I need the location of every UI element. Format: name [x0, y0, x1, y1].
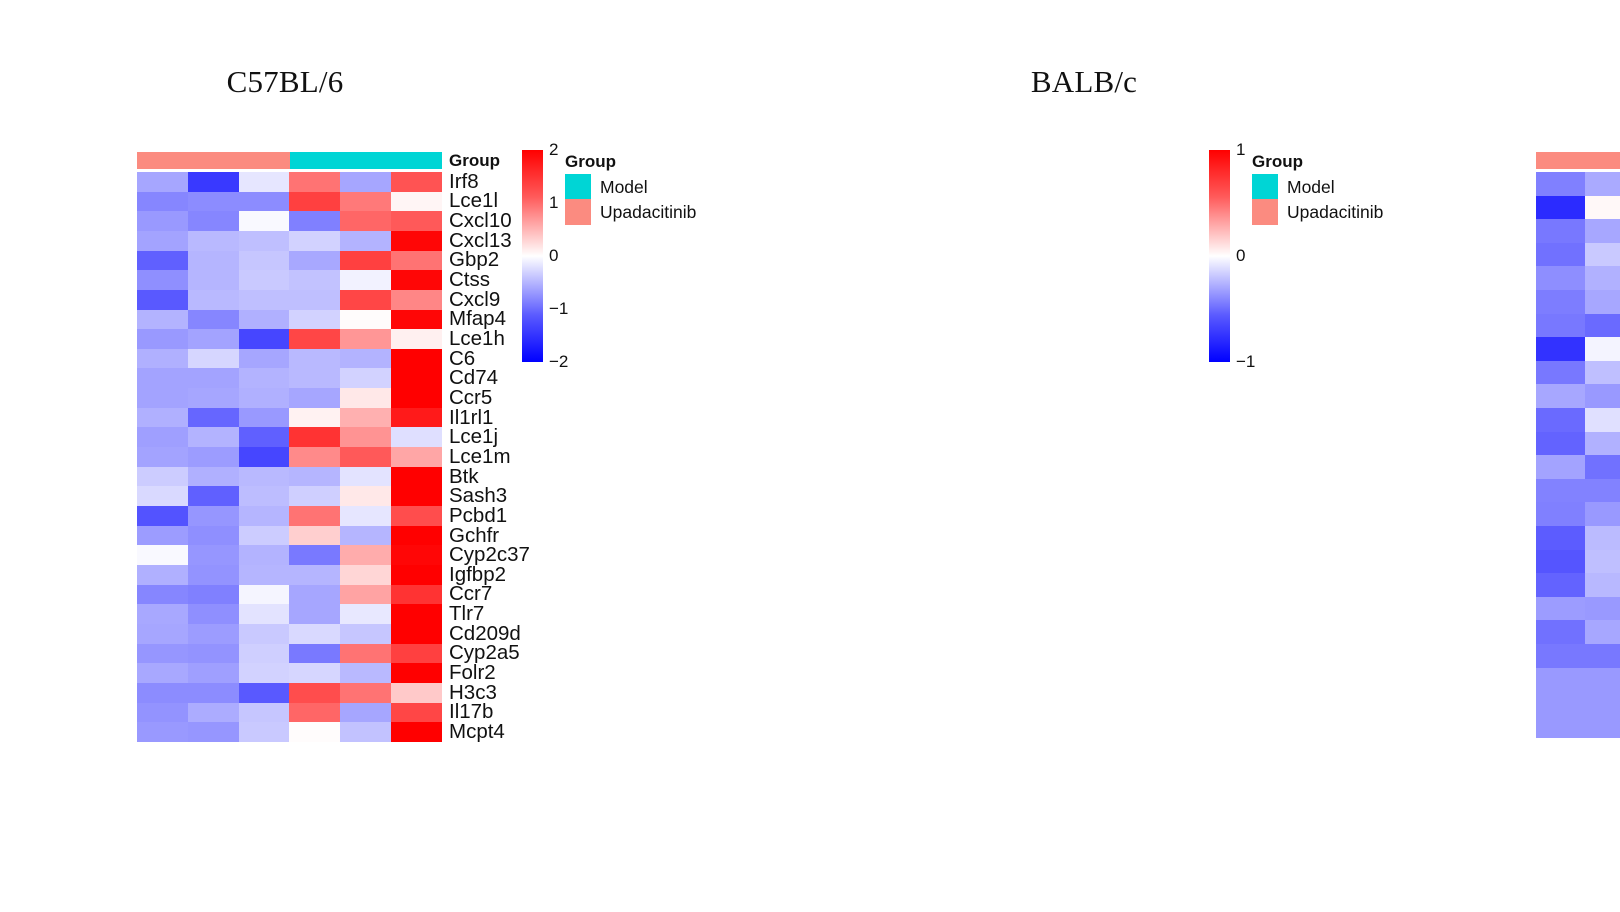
heatmap-cell	[188, 172, 239, 192]
heatmap-cell	[289, 663, 340, 683]
heatmap-cell	[188, 310, 239, 330]
heatmap-cell	[239, 329, 290, 349]
legend-title-balbc: Group	[1252, 152, 1303, 172]
group-segment-upadacitinib	[1536, 152, 1620, 169]
heatmap-cell	[137, 388, 188, 408]
heatmap-cell	[340, 722, 391, 742]
heatmap-cell	[391, 565, 442, 585]
heatmap-cell	[188, 683, 239, 703]
heatmap-cell	[137, 565, 188, 585]
heatmap-cell	[137, 663, 188, 683]
heatmap-cell	[1585, 550, 1620, 574]
heatmap-cell	[239, 624, 290, 644]
heatmap-cell	[340, 585, 391, 605]
heatmap-cell	[391, 722, 442, 742]
heatmap-cell	[340, 506, 391, 526]
heatmap-cell	[289, 349, 340, 369]
heatmap-cell	[391, 349, 442, 369]
heatmap-cell	[1536, 219, 1585, 243]
heatmap-cell	[340, 211, 391, 231]
heatmap-cell	[391, 310, 442, 330]
panel-c57bl6: C57BL/6 Group Irf8Lce1lCxcl10Cxcl13Gbp2C…	[0, 0, 810, 912]
heatmap-cell	[340, 192, 391, 212]
heatmap-cell	[1536, 172, 1585, 196]
heatmap-cell	[1536, 266, 1585, 290]
heatmap-cell	[239, 251, 290, 271]
heatmap-cell	[239, 447, 290, 467]
heatmap-cell	[188, 703, 239, 723]
heatmap-cell	[1585, 479, 1620, 503]
heatmap-cell	[239, 644, 290, 664]
heatmap-cell	[391, 211, 442, 231]
colorbar-tick: −1	[549, 299, 568, 319]
heatmap-cell	[239, 172, 290, 192]
heatmap-cell	[1536, 668, 1585, 692]
heatmap-cell	[289, 624, 340, 644]
heatmap-cell	[289, 722, 340, 742]
heatmap-cell	[1536, 550, 1585, 574]
heatmap-cell	[1585, 314, 1620, 338]
group-annotation-label-c57bl6: Group	[449, 151, 500, 171]
heatmap-cell	[1585, 290, 1620, 314]
heatmap-cell	[239, 388, 290, 408]
heatmap-cell	[239, 486, 290, 506]
heatmap-cell	[340, 329, 391, 349]
heatmap-cell	[239, 722, 290, 742]
heatmap-cell	[391, 703, 442, 723]
heatmap-cell	[391, 408, 442, 428]
heatmap-cell	[391, 329, 442, 349]
heatmap-cell	[137, 604, 188, 624]
heatmap-cell	[137, 703, 188, 723]
heatmap-cell	[188, 585, 239, 605]
heatmap-cell	[391, 388, 442, 408]
legend-label-upadacitinib: Upadacitinib	[600, 202, 696, 223]
heatmap-cell	[137, 211, 188, 231]
heatmap-cell	[239, 211, 290, 231]
heatmap-cell	[188, 722, 239, 742]
heatmap-cell	[1585, 432, 1620, 456]
gene-label-mcpt4: Mcpt4	[449, 722, 505, 743]
heatmap-cell	[1585, 502, 1620, 526]
heatmap-cell	[289, 447, 340, 467]
heatmap-cell	[391, 447, 442, 467]
legend-item-upadacitinib[interactable]: Upadacitinib	[565, 199, 696, 225]
legend-swatch-model	[565, 174, 591, 200]
heatmap-cell	[239, 349, 290, 369]
heatmap-cell	[289, 683, 340, 703]
heatmap-cell	[188, 388, 239, 408]
heatmap-cell	[239, 585, 290, 605]
heatmap-cell	[289, 644, 340, 664]
heatmap-cell	[137, 467, 188, 487]
heatmap-cell	[1585, 691, 1620, 715]
heatmap-cell	[289, 545, 340, 565]
colorbar-tick: −1	[1236, 352, 1255, 372]
heatmap-cell	[188, 604, 239, 624]
heatmap-cell	[239, 368, 290, 388]
heatmap-cell	[239, 565, 290, 585]
heatmap-cell	[137, 486, 188, 506]
colorbar-tick: 0	[549, 246, 558, 266]
heatmap-cell	[340, 486, 391, 506]
heatmap-cell	[340, 604, 391, 624]
heatmap-cell	[188, 231, 239, 251]
heatmap-cell	[239, 663, 290, 683]
heatmap-cell	[391, 231, 442, 251]
heatmap-cell	[289, 604, 340, 624]
heatmap-cell	[137, 290, 188, 310]
heatmap-cell	[340, 408, 391, 428]
heatmap-cell	[289, 329, 340, 349]
heatmap-cell	[137, 310, 188, 330]
heatmap-cell	[1585, 266, 1620, 290]
heatmap-cell	[188, 192, 239, 212]
heatmap-cell	[289, 467, 340, 487]
heatmap-cell	[391, 251, 442, 271]
heatmap-cell	[289, 172, 340, 192]
colorbar-c57bl6	[522, 150, 543, 362]
heatmap-cell	[1536, 620, 1585, 644]
heatmap-cell	[340, 663, 391, 683]
heatmap-cell	[188, 644, 239, 664]
heatmap-cell	[239, 408, 290, 428]
heatmap-cell	[188, 270, 239, 290]
heatmap-cell	[1585, 573, 1620, 597]
heatmap-cell	[289, 211, 340, 231]
heatmap-cell	[137, 585, 188, 605]
heatmap-cell	[289, 368, 340, 388]
heatmap-cell	[1536, 573, 1585, 597]
heatmap-cell	[289, 585, 340, 605]
heatmap-cell	[340, 447, 391, 467]
heatmap-cell	[289, 408, 340, 428]
panel-balbc: BALB/c Group Il1aIl36bStat2Il33Il1bCxcl1…	[700, 0, 1620, 912]
heatmap-cell	[340, 644, 391, 664]
heatmap-cell	[1536, 243, 1585, 267]
heatmap-cell	[289, 388, 340, 408]
heatmap-cell	[340, 368, 391, 388]
heatmap-cell	[391, 290, 442, 310]
heatmap-cell	[289, 192, 340, 212]
heatmap-cell	[391, 172, 442, 192]
heatmap-cell	[340, 231, 391, 251]
legend-item-model[interactable]: Model	[565, 174, 648, 200]
heatmap-cell	[289, 565, 340, 585]
heatmap-cell	[137, 251, 188, 271]
heatmap-cell	[340, 526, 391, 546]
heatmap-cell	[1536, 644, 1585, 668]
colorbar-tick: 1	[549, 193, 558, 213]
legend-swatch-upadacitinib	[565, 199, 591, 225]
heatmap-cell	[340, 545, 391, 565]
heatmap-cell	[1536, 455, 1585, 479]
page-title-c57bl6: C57BL/6	[0, 64, 690, 100]
heatmap-cell	[188, 486, 239, 506]
legend-item-model[interactable]: Model	[1252, 174, 1335, 200]
heatmap-cell	[1585, 644, 1620, 668]
heatmap-cell	[1536, 314, 1585, 338]
heatmap-cell	[239, 506, 290, 526]
heatmap-cell	[188, 427, 239, 447]
heatmap-cell	[188, 349, 239, 369]
colorbar-balbc	[1209, 150, 1230, 362]
heatmap-cell	[188, 290, 239, 310]
heatmap-cell	[391, 192, 442, 212]
heatmap-cell	[340, 427, 391, 447]
heatmap-cell	[340, 270, 391, 290]
heatmap-cell	[1585, 455, 1620, 479]
heatmap-cell	[391, 545, 442, 565]
legend-swatch-model	[1252, 174, 1278, 200]
heatmap-cell	[1585, 597, 1620, 621]
heatmap-cell	[188, 368, 239, 388]
legend-label-upadacitinib: Upadacitinib	[1287, 202, 1383, 223]
heatmap-cell	[289, 526, 340, 546]
legend-swatch-upadacitinib	[1252, 199, 1278, 225]
heatmap-cell	[239, 270, 290, 290]
heatmap-cell	[391, 644, 442, 664]
heatmap-cell	[1536, 361, 1585, 385]
heatmap-cell	[188, 506, 239, 526]
heatmap-cell	[340, 388, 391, 408]
heatmap-cell	[289, 506, 340, 526]
heatmap-cell	[289, 310, 340, 330]
heatmap-grid-c57bl6	[137, 172, 442, 742]
legend-label-model: Model	[600, 177, 648, 198]
heatmap-cell	[239, 604, 290, 624]
heatmap-cell	[1536, 196, 1585, 220]
heatmap-cell	[1536, 384, 1585, 408]
heatmap-cell	[137, 447, 188, 467]
legend-item-upadacitinib[interactable]: Upadacitinib	[1252, 199, 1383, 225]
heatmap-cell	[239, 526, 290, 546]
heatmap-cell	[137, 722, 188, 742]
heatmap-cell	[391, 683, 442, 703]
heatmap-cell	[391, 506, 442, 526]
heatmap-c57bl6: Group Irf8Lce1lCxcl10Cxcl13Gbp2CtssCxcl9…	[137, 152, 442, 169]
heatmap-cell	[1585, 196, 1620, 220]
heatmap-cell	[1536, 337, 1585, 361]
colorbar-tick: 0	[1236, 246, 1245, 266]
heatmap-cell	[1585, 668, 1620, 692]
legend-label-model: Model	[1287, 177, 1335, 198]
heatmap-cell	[1536, 715, 1585, 739]
heatmap-cell	[1585, 337, 1620, 361]
colorbar-tick: 1	[1236, 140, 1245, 160]
heatmap-cell	[340, 683, 391, 703]
heatmap-cell	[340, 349, 391, 369]
heatmap-cell	[137, 644, 188, 664]
heatmap-cell	[1536, 691, 1585, 715]
heatmap-cell	[239, 310, 290, 330]
heatmap-cell	[1536, 290, 1585, 314]
heatmap-cell	[239, 467, 290, 487]
group-annotation-bar-balbc	[1536, 152, 1620, 169]
heatmap-cell	[137, 172, 188, 192]
heatmap-cell	[1585, 526, 1620, 550]
heatmap-cell	[188, 565, 239, 585]
heatmap-cell	[1536, 502, 1585, 526]
heatmap-cell	[239, 683, 290, 703]
heatmap-cell	[1536, 479, 1585, 503]
heatmap-cell	[137, 624, 188, 644]
heatmap-cell	[289, 290, 340, 310]
colorbar-tick: 2	[549, 140, 558, 160]
heatmap-cell	[391, 624, 442, 644]
heatmap-cell	[289, 251, 340, 271]
legend-title-c57bl6: Group	[565, 152, 616, 172]
heatmap-cell	[340, 467, 391, 487]
heatmap-cell	[188, 467, 239, 487]
heatmap-cell	[340, 565, 391, 585]
heatmap-cell	[1585, 715, 1620, 739]
heatmap-cell	[188, 329, 239, 349]
heatmap-cell	[188, 624, 239, 644]
heatmap-cell	[137, 231, 188, 251]
heatmap-cell	[391, 663, 442, 683]
heatmap-cell	[188, 408, 239, 428]
heatmap-cell	[137, 368, 188, 388]
heatmap-cell	[239, 192, 290, 212]
heatmap-cell	[1536, 597, 1585, 621]
heatmap-cell	[239, 427, 290, 447]
heatmap-cell	[1585, 408, 1620, 432]
heatmap-cell	[289, 427, 340, 447]
heatmap-balbc: Group Il1aIl36bStat2Il33Il1bCxcl10Foxp3I…	[1536, 152, 1620, 169]
heatmap-cell	[340, 310, 391, 330]
heatmap-cell	[188, 545, 239, 565]
heatmap-cell	[1585, 243, 1620, 267]
heatmap-cell	[391, 486, 442, 506]
heatmap-cell	[239, 703, 290, 723]
heatmap-cell	[1585, 620, 1620, 644]
heatmap-cell	[340, 251, 391, 271]
heatmap-cell	[289, 270, 340, 290]
heatmap-cell	[137, 349, 188, 369]
heatmap-cell	[137, 270, 188, 290]
heatmap-cell	[239, 290, 290, 310]
colorbar-tick: −2	[549, 352, 568, 372]
heatmap-cell	[239, 231, 290, 251]
heatmap-cell	[239, 545, 290, 565]
heatmap-cell	[391, 270, 442, 290]
heatmap-cell	[1585, 361, 1620, 385]
heatmap-cell	[188, 663, 239, 683]
group-segment-model	[290, 152, 443, 169]
heatmap-cell	[188, 526, 239, 546]
heatmap-cell	[1585, 172, 1620, 196]
heatmap-cell	[289, 231, 340, 251]
heatmap-cell	[391, 368, 442, 388]
heatmap-grid-balbc	[1536, 172, 1620, 738]
heatmap-cell	[340, 703, 391, 723]
heatmap-cell	[137, 506, 188, 526]
heatmap-cell	[1585, 219, 1620, 243]
heatmap-cell	[137, 526, 188, 546]
heatmap-cell	[391, 604, 442, 624]
heatmap-cell	[1536, 526, 1585, 550]
heatmap-cell	[289, 486, 340, 506]
heatmap-cell	[137, 545, 188, 565]
heatmap-cell	[340, 624, 391, 644]
page-title-balbc: BALB/c	[624, 64, 1544, 100]
heatmap-cell	[188, 211, 239, 231]
heatmap-cell	[137, 683, 188, 703]
heatmap-cell	[391, 467, 442, 487]
heatmap-cell	[391, 526, 442, 546]
heatmap-cell	[188, 447, 239, 467]
heatmap-cell	[391, 585, 442, 605]
heatmap-cell	[1536, 408, 1585, 432]
heatmap-cell	[289, 703, 340, 723]
heatmap-cell	[137, 329, 188, 349]
heatmap-cell	[340, 172, 391, 192]
heatmap-cell	[188, 251, 239, 271]
heatmap-cell	[137, 408, 188, 428]
heatmap-cell	[1585, 384, 1620, 408]
heatmap-cell	[391, 427, 442, 447]
heatmap-cell	[137, 427, 188, 447]
heatmap-cell	[137, 192, 188, 212]
heatmap-cell	[340, 290, 391, 310]
group-segment-upadacitinib	[137, 152, 290, 169]
group-annotation-bar-c57bl6	[137, 152, 442, 169]
heatmap-cell	[1536, 432, 1585, 456]
